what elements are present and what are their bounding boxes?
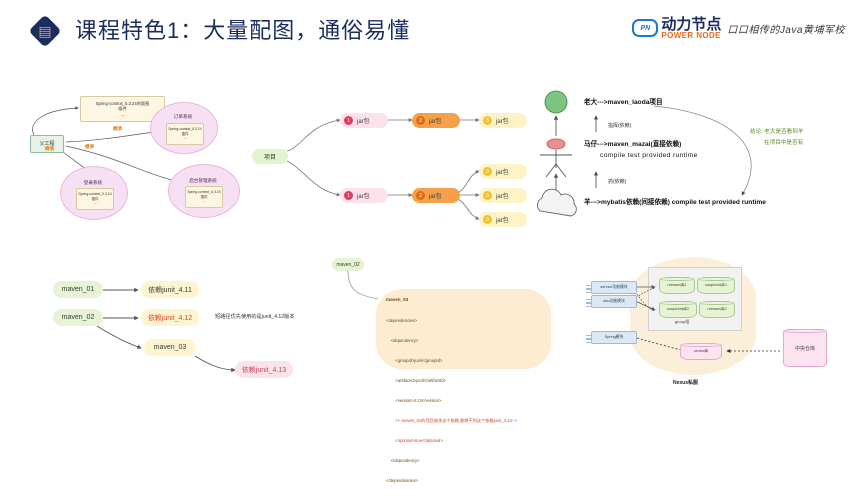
logo-cn-text: 动力节点 (661, 17, 721, 32)
module-service: service功能模块 (591, 281, 637, 294)
plugin-dots-order: ... (184, 136, 187, 141)
module-spring: Spring模块 (591, 331, 637, 344)
jar-node-l2-b: 2 jar包 (412, 188, 460, 203)
system-label-order: 订单系统 (150, 114, 216, 120)
scope-conclusion-line-1: 结论: 老大是否看到羊 (750, 128, 803, 137)
jar-node-label: jar包 (496, 167, 509, 176)
nexus-caption: Nexus私服 (673, 379, 698, 386)
xml-line: </dependencies> (386, 478, 517, 485)
xml-code-title: maven_03 (386, 297, 408, 302)
inherit-label-3: 继承 (85, 144, 94, 150)
xml-line: <artifactId>junit</artifactId> (386, 378, 517, 385)
jar-node-label: jar包 (496, 191, 509, 200)
xml-line: <version>4.13</version> (386, 398, 517, 405)
module-label: dao功能模块 (603, 299, 625, 304)
jar-node-label: jar包 (496, 116, 509, 125)
node-maven-01: maven_01 (53, 281, 103, 298)
xml-comment-line: <!--maven_01的项目继承这个依赖,都想不到这个依赖junit_4.13… (386, 418, 517, 425)
scope-arrow-label-2: 抓(依赖) (608, 178, 626, 185)
system-plugin-box-login: Spring-context_5.3.24 插件 ... (76, 188, 114, 210)
inherit-label-1: 继承 (113, 126, 122, 132)
node-junit-413: 依赖junit_4.13 (235, 361, 293, 378)
system-plugin-box-order: Spring-context_5.3.24 插件 ... (166, 123, 204, 145)
jar-level-badge: 1 (344, 116, 353, 125)
repo-snapshots-1: snapshots库1 (697, 277, 735, 294)
diagram-optional-dependency: maven_02 maven_03 <dependencies> <depend… (330, 255, 555, 380)
book-badge-icon: ▤ (30, 16, 60, 46)
xml-line: <dependencies> (386, 318, 517, 325)
diagram-jar-tree: 项目 1 jar包 2 jar包 3 jar包 1 jar包 2 jar包 3 … (230, 95, 505, 220)
jar-level-badge: 3 (483, 215, 492, 224)
logo-tagline: 口口相传的Java黄埔军校 (727, 21, 845, 36)
slide-root: ▤ 课程特色1：大量配图，通俗易懂 PN 动力节点 POWER NODE 口口相… (0, 0, 853, 478)
scope-list-direct: compile test provided runtime (600, 152, 698, 159)
jar-node-label: jar包 (429, 116, 442, 125)
slide-header: ▤ 课程特色1：大量配图，通俗易懂 PN 动力节点 POWER NODE 口口相… (0, 0, 853, 60)
module-bars-icon (586, 335, 592, 345)
jar-node-label: jar包 (357, 116, 370, 125)
repo-snapshots-2: snapshots库2 (659, 301, 697, 318)
repo-remote-central: 中央仓库 (783, 329, 827, 367)
jar-node-l1-b: 1 jar包 (340, 188, 388, 203)
jar-level-badge: 3 (483, 191, 492, 200)
scope-line-minion: 马仔--->maven_mazai(直接依赖) (584, 138, 681, 148)
scope-conclusion-line-2: 在项目中是否有 (764, 139, 803, 148)
repo-central: central库 (680, 343, 722, 360)
jar-node-label: jar包 (496, 215, 509, 224)
diagram-nexus: service功能模块 dao功能模块 Spring模块 releases库1 … (575, 255, 847, 395)
parent-plugin-dots: ... (121, 112, 125, 117)
shortest-path-note: 短路径优先使用的是junit_4.12版本 (215, 313, 295, 320)
module-dao: dao功能模块 (591, 295, 637, 308)
jar-level-badge: 3 (483, 116, 492, 125)
node-junit-412: 依赖junit_4.12 (141, 309, 199, 326)
scope-line-boss: 老大--->maven_laoda项目 (584, 96, 663, 106)
diagram-shortest-path: maven_01 maven_02 依赖junit_4.11 依赖junit_4… (45, 270, 335, 380)
jar-level-badge: 1 (344, 191, 353, 200)
brand-logo: PN 动力节点 POWER NODE 口口相传的Java黄埔军校 (632, 14, 845, 42)
jar-level-badge: 3 (483, 167, 492, 176)
node-maven-03: maven_03 (144, 339, 196, 356)
group-repo-label: group组 (675, 319, 689, 325)
scope-line-sheep: 羊--->mybatis依赖(间接依赖) compile test provid… (584, 196, 766, 206)
system-plugin-box-admin: Spring-context_5.3.24 插件 ... (185, 186, 223, 208)
xml-line: </dependency> (386, 458, 517, 465)
logo-en-text: POWER NODE (661, 32, 721, 40)
node-maven-02-tag: maven_02 (332, 258, 364, 271)
jar-level-badge: 2 (416, 116, 425, 125)
repo-releases-2: releases库2 (699, 301, 735, 318)
diagram-dependency-scope: 老大--->maven_laoda项目 指挥(依赖) 马仔--->maven_m… (582, 90, 847, 210)
system-label-admin: 后台管理系统 (168, 178, 238, 184)
jar-node-l2-a: 2 jar包 (412, 113, 460, 128)
jar-node-label: jar包 (357, 191, 370, 200)
inherit-label-2: 继承 (45, 146, 54, 152)
node-junit-411: 依赖junit_4.11 (141, 281, 199, 298)
module-label: Spring模块 (605, 335, 624, 340)
node-maven-02: maven_02 (53, 309, 103, 326)
xml-line: <groupId>junit</groupId> (386, 358, 517, 365)
page-title: 课程特色1：大量配图，通俗易懂 (75, 13, 410, 45)
system-label-login: 登录系统 (60, 180, 126, 186)
plugin-dots-admin: ... (203, 199, 206, 204)
jar-level-badge: 2 (416, 191, 425, 200)
xml-optional-line: <optional>true</optional> (386, 438, 517, 445)
module-bars-icon (586, 285, 592, 295)
nexus-connectors (575, 255, 847, 395)
jar-node-label: jar包 (429, 191, 442, 200)
jar-root-node: 项目 (252, 149, 288, 164)
xml-code-block: <dependencies> <dependency> <groupId>jun… (386, 305, 517, 498)
repo-releases-1: releases库1 (659, 277, 695, 294)
pn-logo-icon: PN (632, 19, 658, 37)
scope-arrows (582, 90, 847, 210)
scope-arrow-label-1: 指挥(依赖) (608, 122, 631, 129)
module-label: service功能模块 (600, 285, 627, 290)
xml-line: <dependency> (386, 338, 517, 345)
plugin-dots-login: ... (94, 201, 97, 206)
jar-node-l1-a: 1 jar包 (340, 113, 388, 128)
module-bars-icon (586, 299, 592, 309)
